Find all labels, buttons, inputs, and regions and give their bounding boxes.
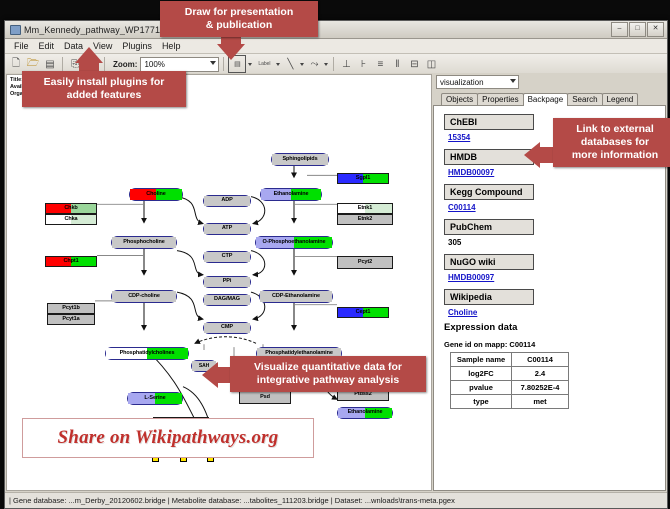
callout-visualize-text: Visualize quantitative data for integrat… (254, 361, 402, 386)
expression-data-heading: Expression data (444, 322, 665, 333)
visualization-value: visualization (440, 78, 484, 87)
minimize-button[interactable]: – (611, 22, 628, 37)
table-row: pvalue7.80252E-4 (451, 381, 569, 395)
metabolite-node-ppi[interactable]: PPi (203, 276, 251, 288)
callout-plugins-text: Easily install plugins for added feature… (44, 76, 165, 101)
visualization-select[interactable]: visualization (436, 75, 519, 89)
node-label: Phosphatidylcholines (120, 351, 175, 357)
callout-plugins-arrow (75, 47, 103, 63)
chevron-down-icon (210, 61, 216, 65)
metabolite-node-adp[interactable]: ADP (203, 195, 251, 207)
app-icon (9, 24, 20, 35)
gene-node-psd[interactable]: Psd (239, 391, 291, 404)
menu-bar[interactable]: File Edit Data View Plugins Help (5, 39, 667, 54)
database-name: HMDB (444, 149, 534, 165)
node-label: L-Serine (144, 396, 165, 402)
metabolite-node-phosphocholine[interactable]: Phosphocholine (111, 236, 177, 249)
callout-plugins: Easily install plugins for added feature… (22, 71, 186, 107)
gene-node-cept1[interactable]: Cept1 (337, 307, 389, 318)
gene-node-chka[interactable]: Chka (45, 214, 97, 225)
tab-objects[interactable]: Objects (441, 93, 478, 105)
metabolite-node-cmp[interactable]: CMP (203, 322, 251, 334)
gene-node-etnk2[interactable]: Etnk2 (337, 214, 393, 225)
align-left-icon[interactable]: ⊦ (355, 56, 371, 72)
close-button[interactable]: ✕ (647, 22, 664, 37)
node-label: Ethanolamine (348, 410, 383, 416)
menu-edit[interactable]: Edit (34, 41, 60, 51)
gene-node-pcyt1b[interactable]: Pcyt1b (47, 303, 95, 314)
tab-properties[interactable]: Properties (477, 93, 523, 105)
database-name: PubChem (444, 219, 534, 235)
side-tabs[interactable]: Objects Properties Backpage Search Legen… (433, 90, 666, 106)
connector-dropdown-icon[interactable] (324, 63, 328, 66)
zoom-label: Zoom: (113, 60, 137, 69)
share-banner-text: Share on Wikipathways.org (58, 427, 279, 449)
node-label: Sgpl1 (356, 176, 370, 182)
database-block-pubchem: PubChem305 (444, 217, 665, 247)
same-width-icon[interactable]: ⊟ (406, 56, 422, 72)
callout-links-text: Link to external databases for more info… (572, 123, 658, 161)
metabolite-node-ctp[interactable]: CTP (203, 251, 251, 263)
node-label: Choline (146, 192, 165, 198)
database-link[interactable]: HMDB00097 (448, 168, 665, 177)
database-name: NuGO wiki (444, 254, 534, 270)
new-icon[interactable]: 🗋 (8, 56, 24, 72)
status-text: | Gene database: ...m_Derby_20120602.bri… (9, 496, 455, 505)
distribute-horizontal-icon[interactable]: ‖ (389, 56, 405, 72)
datanode-dropdown-icon[interactable] (248, 63, 252, 66)
maximize-button[interactable]: □ (629, 22, 646, 37)
node-label: Chkb (64, 206, 77, 212)
gene-node-etnk1[interactable]: Etnk1 (337, 203, 393, 214)
database-name: ChEBI (444, 114, 534, 130)
tab-legend[interactable]: Legend (602, 93, 639, 105)
node-label: Sphingolipids (282, 157, 317, 163)
node-label: Chpt1 (63, 259, 78, 265)
metabolite-node-cdp-choline[interactable]: CDP-choline (111, 290, 177, 303)
metabolite-node-sphingolipids[interactable]: Sphingolipids (271, 153, 329, 166)
align-top-icon[interactable]: ⊥ (338, 56, 354, 72)
gene-node-sgpl1[interactable]: Sgpl1 (337, 173, 389, 184)
connector-tool[interactable]: ⤳ (306, 56, 322, 72)
metabolite-node-ethanolamine-bottom[interactable]: Ethanolamine (337, 407, 393, 419)
table-cell-value: 2.4 (512, 367, 569, 381)
callout-draw: Draw for presentation & publication (160, 1, 318, 37)
metabolite-node-choline-top[interactable]: Choline (129, 188, 183, 201)
menu-file[interactable]: File (9, 41, 34, 51)
node-label: Chka (64, 217, 77, 223)
node-label: ATP (222, 226, 232, 232)
node-label: ADP (221, 198, 232, 204)
window-controls[interactable]: – □ ✕ (611, 22, 665, 37)
table-cell-value: C00114 (512, 353, 569, 367)
toolbar-separator-4 (333, 57, 334, 71)
node-label: Psd (260, 395, 270, 401)
metabolite-node-dagmag[interactable]: DAG/MAG (203, 294, 251, 306)
node-label: CTP (222, 254, 233, 260)
database-link[interactable]: C00114 (448, 203, 665, 212)
open-icon[interactable]: 🗁 (25, 56, 41, 72)
metabolite-node-atp[interactable]: ATP (203, 223, 251, 235)
node-label: O-Phosphoethanolamine (263, 240, 326, 246)
status-bar: | Gene database: ...m_Derby_20120602.bri… (5, 492, 667, 508)
database-link[interactable]: HMDB00097 (448, 273, 665, 282)
database-link[interactable]: Choline (448, 308, 665, 317)
gene-node-chkb[interactable]: Chkb (45, 203, 97, 214)
save-icon[interactable]: ▤ (42, 56, 58, 72)
node-label: Cept1 (356, 310, 371, 316)
table-row: typemet (451, 395, 569, 409)
metabolite-node-o-phosphoethanolamine[interactable]: O-Phosphoethanolamine (255, 236, 333, 249)
database-block-kegg-compound: Kegg CompoundC00114 (444, 182, 665, 212)
label-tool[interactable]: Label (254, 56, 274, 72)
database-name: Wikipedia (444, 289, 534, 305)
screenshot-root: Mm_Kennedy_pathway_WP1771_45176.gpml – □… (0, 0, 670, 509)
table-row: Sample nameC00114 (451, 353, 569, 367)
zoom-select[interactable]: 100% (140, 57, 219, 72)
gene-node-chpt1[interactable]: Chpt1 (45, 256, 97, 267)
metabolite-node-l-serine-left[interactable]: L-Serine (127, 392, 183, 405)
node-label: Ethanolamine (274, 192, 309, 198)
table-row: log2FC2.4 (451, 367, 569, 381)
callout-visualize: Visualize quantitative data for integrat… (230, 356, 426, 392)
node-label: Ptdss2 (354, 392, 371, 398)
toolbar-separator-1 (62, 57, 63, 71)
gene-id-line: Gene id on mapp: C00114 (444, 340, 665, 349)
title-bar: Mm_Kennedy_pathway_WP1771_45176.gpml – □… (5, 21, 667, 39)
node-label: Etnk2 (358, 217, 372, 223)
database-name: Kegg Compound (444, 184, 534, 200)
metabolite-node-cdp-ethanolamine[interactable]: CDP-Ethanolamine (259, 290, 333, 303)
same-height-icon[interactable]: ◫ (423, 56, 439, 72)
tab-search[interactable]: Search (567, 93, 602, 105)
expression-table: Sample nameC00114log2FC2.4pvalue7.80252E… (450, 352, 569, 409)
metabolite-node-ethanolamine-top[interactable]: Ethanolamine (260, 188, 322, 201)
table-cell-value: 7.80252E-4 (512, 381, 569, 395)
database-block-wikipedia: WikipediaCholine (444, 287, 665, 317)
node-label: Pcyt1b (62, 306, 79, 312)
visualization-row[interactable]: visualization (433, 74, 666, 90)
callout-draw-arrow (217, 44, 245, 60)
table-cell-key: pvalue (451, 381, 512, 395)
label-dropdown-icon[interactable] (276, 63, 280, 66)
metabolite-node-phosphatidylcholines[interactable]: Phosphatidylcholines (105, 347, 189, 360)
node-label: Etnk1 (358, 206, 372, 212)
toolbar-separator-2 (104, 57, 105, 71)
callout-links: Link to external databases for more info… (553, 118, 670, 167)
node-label: CDP-Ethanolamine (272, 294, 320, 300)
table-cell-key: Sample name (451, 353, 512, 367)
callout-draw-text: Draw for presentation & publication (185, 6, 294, 31)
node-label: Phosphocholine (123, 240, 164, 246)
distribute-vertical-icon[interactable]: ≡ (372, 56, 388, 72)
database-block-nugo-wiki: NuGO wikiHMDB00097 (444, 252, 665, 282)
callout-visualize-arrow (202, 362, 218, 388)
node-label: PPi (223, 279, 232, 285)
table-cell-value: met (512, 395, 569, 409)
node-label: Pcyt2 (358, 260, 372, 266)
node-label: CDP-choline (128, 294, 160, 300)
database-value: 305 (448, 238, 665, 247)
share-banner: Share on Wikipathways.org (22, 418, 314, 458)
tab-backpage[interactable]: Backpage (523, 93, 569, 106)
chevron-down-icon (510, 79, 516, 83)
node-label: Pcyt1a (62, 317, 79, 323)
zoom-value: 100% (144, 60, 164, 69)
menu-plugins[interactable]: Plugins (117, 41, 157, 51)
line-dropdown-icon[interactable] (300, 63, 304, 66)
node-label: CMP (221, 325, 233, 331)
gene-node-pcyt1a[interactable]: Pcyt1a (47, 314, 95, 325)
node-label: DAG/MAG (214, 297, 240, 303)
gene-node-pcyt2[interactable]: Pcyt2 (337, 256, 393, 269)
menu-help[interactable]: Help (157, 41, 186, 51)
callout-links-arrow (524, 142, 540, 168)
table-cell-key: log2FC (451, 367, 512, 381)
line-tool[interactable]: ╲ (282, 56, 298, 72)
table-cell-key: type (451, 395, 512, 409)
